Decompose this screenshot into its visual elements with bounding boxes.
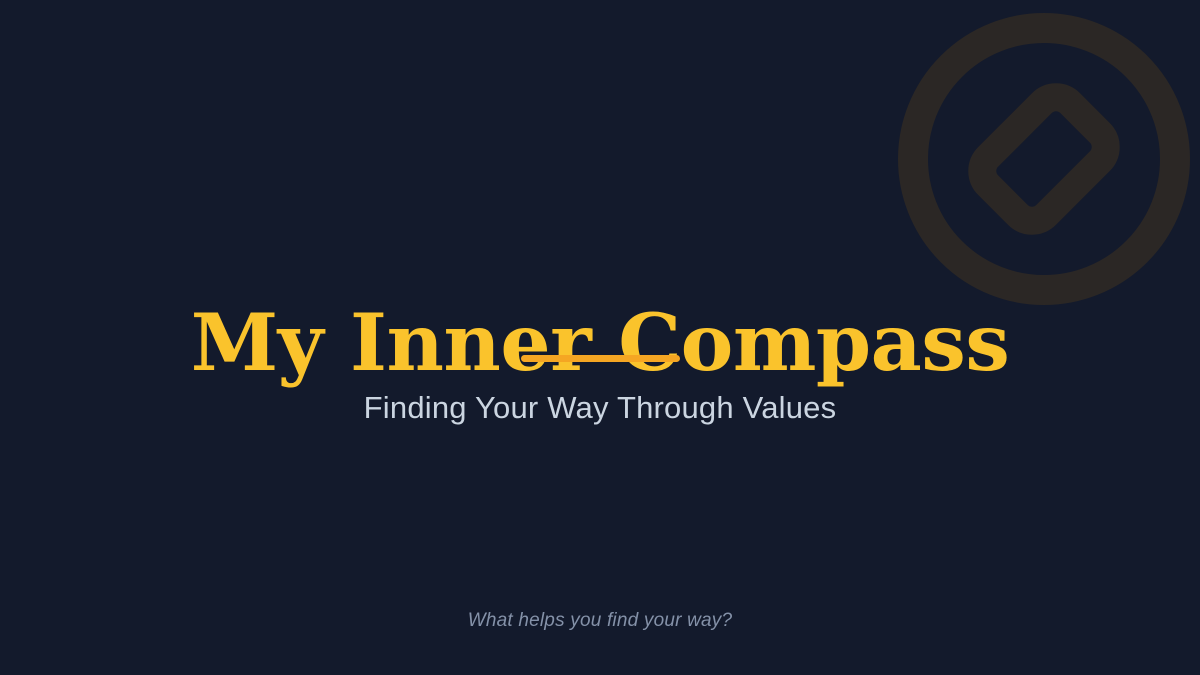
slide-caption: What helps you find your way? [0,608,1200,634]
title-block: My Inner Compass Finding Your Way Throug… [0,0,1200,675]
title-divider-wrap [0,355,1200,362]
page-title: My Inner Compass [0,298,1200,388]
title-divider [521,355,680,362]
title-slide: My Inner Compass Finding Your Way Throug… [0,0,1200,675]
slide-subtitle: Finding Your Way Through Values [0,388,1200,428]
